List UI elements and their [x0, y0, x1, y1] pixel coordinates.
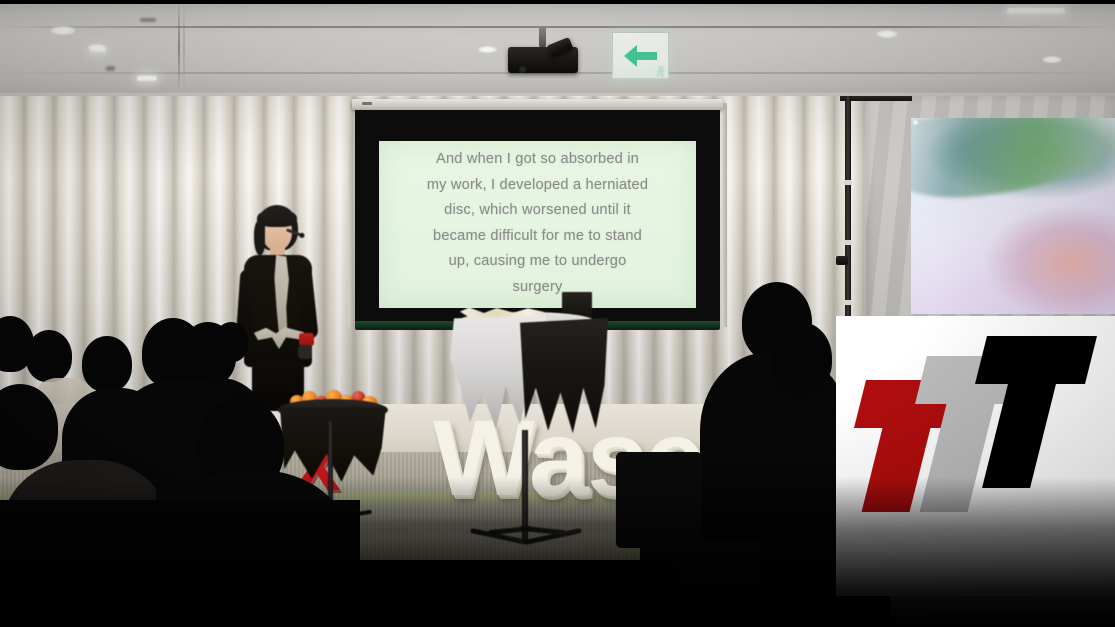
audience-head [26, 330, 72, 382]
ceiling-downlight [1042, 56, 1062, 63]
slide-text: And when I got so absorbed in my work, I… [379, 147, 696, 300]
exit-sign [612, 32, 669, 79]
screen-frame-right [722, 103, 727, 327]
table-leg [520, 526, 566, 536]
ceiling-strip-light [137, 76, 157, 81]
ceiling-seam-vertical [178, 0, 180, 94]
secondary-projection-screen [911, 118, 1115, 314]
projected-slide: And when I got so absorbed in my work, I… [379, 141, 696, 308]
presenter-hand [298, 345, 312, 359]
ceiling-seam [0, 26, 1115, 28]
projector-lens-icon [518, 66, 527, 73]
ceiling-vent [106, 66, 115, 71]
projector-mount-arm [539, 27, 546, 47]
backdrop-support-pole [845, 96, 851, 328]
table-stem [522, 430, 528, 540]
pole-clamp [836, 256, 848, 265]
exit-running-man-icon [656, 66, 665, 77]
audience-foreground-mass [318, 560, 678, 627]
center-high-table [442, 304, 610, 552]
audience-foreground-mass [0, 500, 360, 627]
screen-frame-left [348, 103, 353, 327]
pole-knob [844, 240, 852, 245]
letterbox-top [0, 0, 1115, 4]
letterbox-bottom [0, 623, 1115, 627]
presenter [232, 205, 324, 405]
ceiling-downlight [50, 26, 76, 35]
pole-knob [844, 180, 852, 185]
table-base [470, 526, 582, 550]
table-black-cloth [280, 407, 386, 485]
ceiling-downlight [876, 30, 898, 38]
logo-card [836, 316, 1115, 596]
ceiling-downlight [478, 46, 497, 53]
ceiling-vent [140, 18, 156, 22]
audience-head [82, 336, 132, 392]
audience-head [214, 322, 248, 362]
presenter-hair-side [254, 221, 265, 255]
ceiling-strip-light [90, 48, 106, 52]
exit-arrow-icon [624, 45, 658, 67]
audience-head [770, 322, 832, 394]
ceiling-strip-light [1007, 8, 1065, 14]
pole-knob [844, 300, 852, 305]
video-frame: And when I got so absorbed in my work, I… [0, 0, 1115, 627]
ceiling-seam-vertical [183, 0, 185, 94]
chair-back [616, 452, 702, 548]
main-projection-screen: And when I got so absorbed in my work, I… [352, 99, 723, 330]
table-black-cloth [520, 318, 608, 438]
screen-housing [352, 99, 723, 110]
